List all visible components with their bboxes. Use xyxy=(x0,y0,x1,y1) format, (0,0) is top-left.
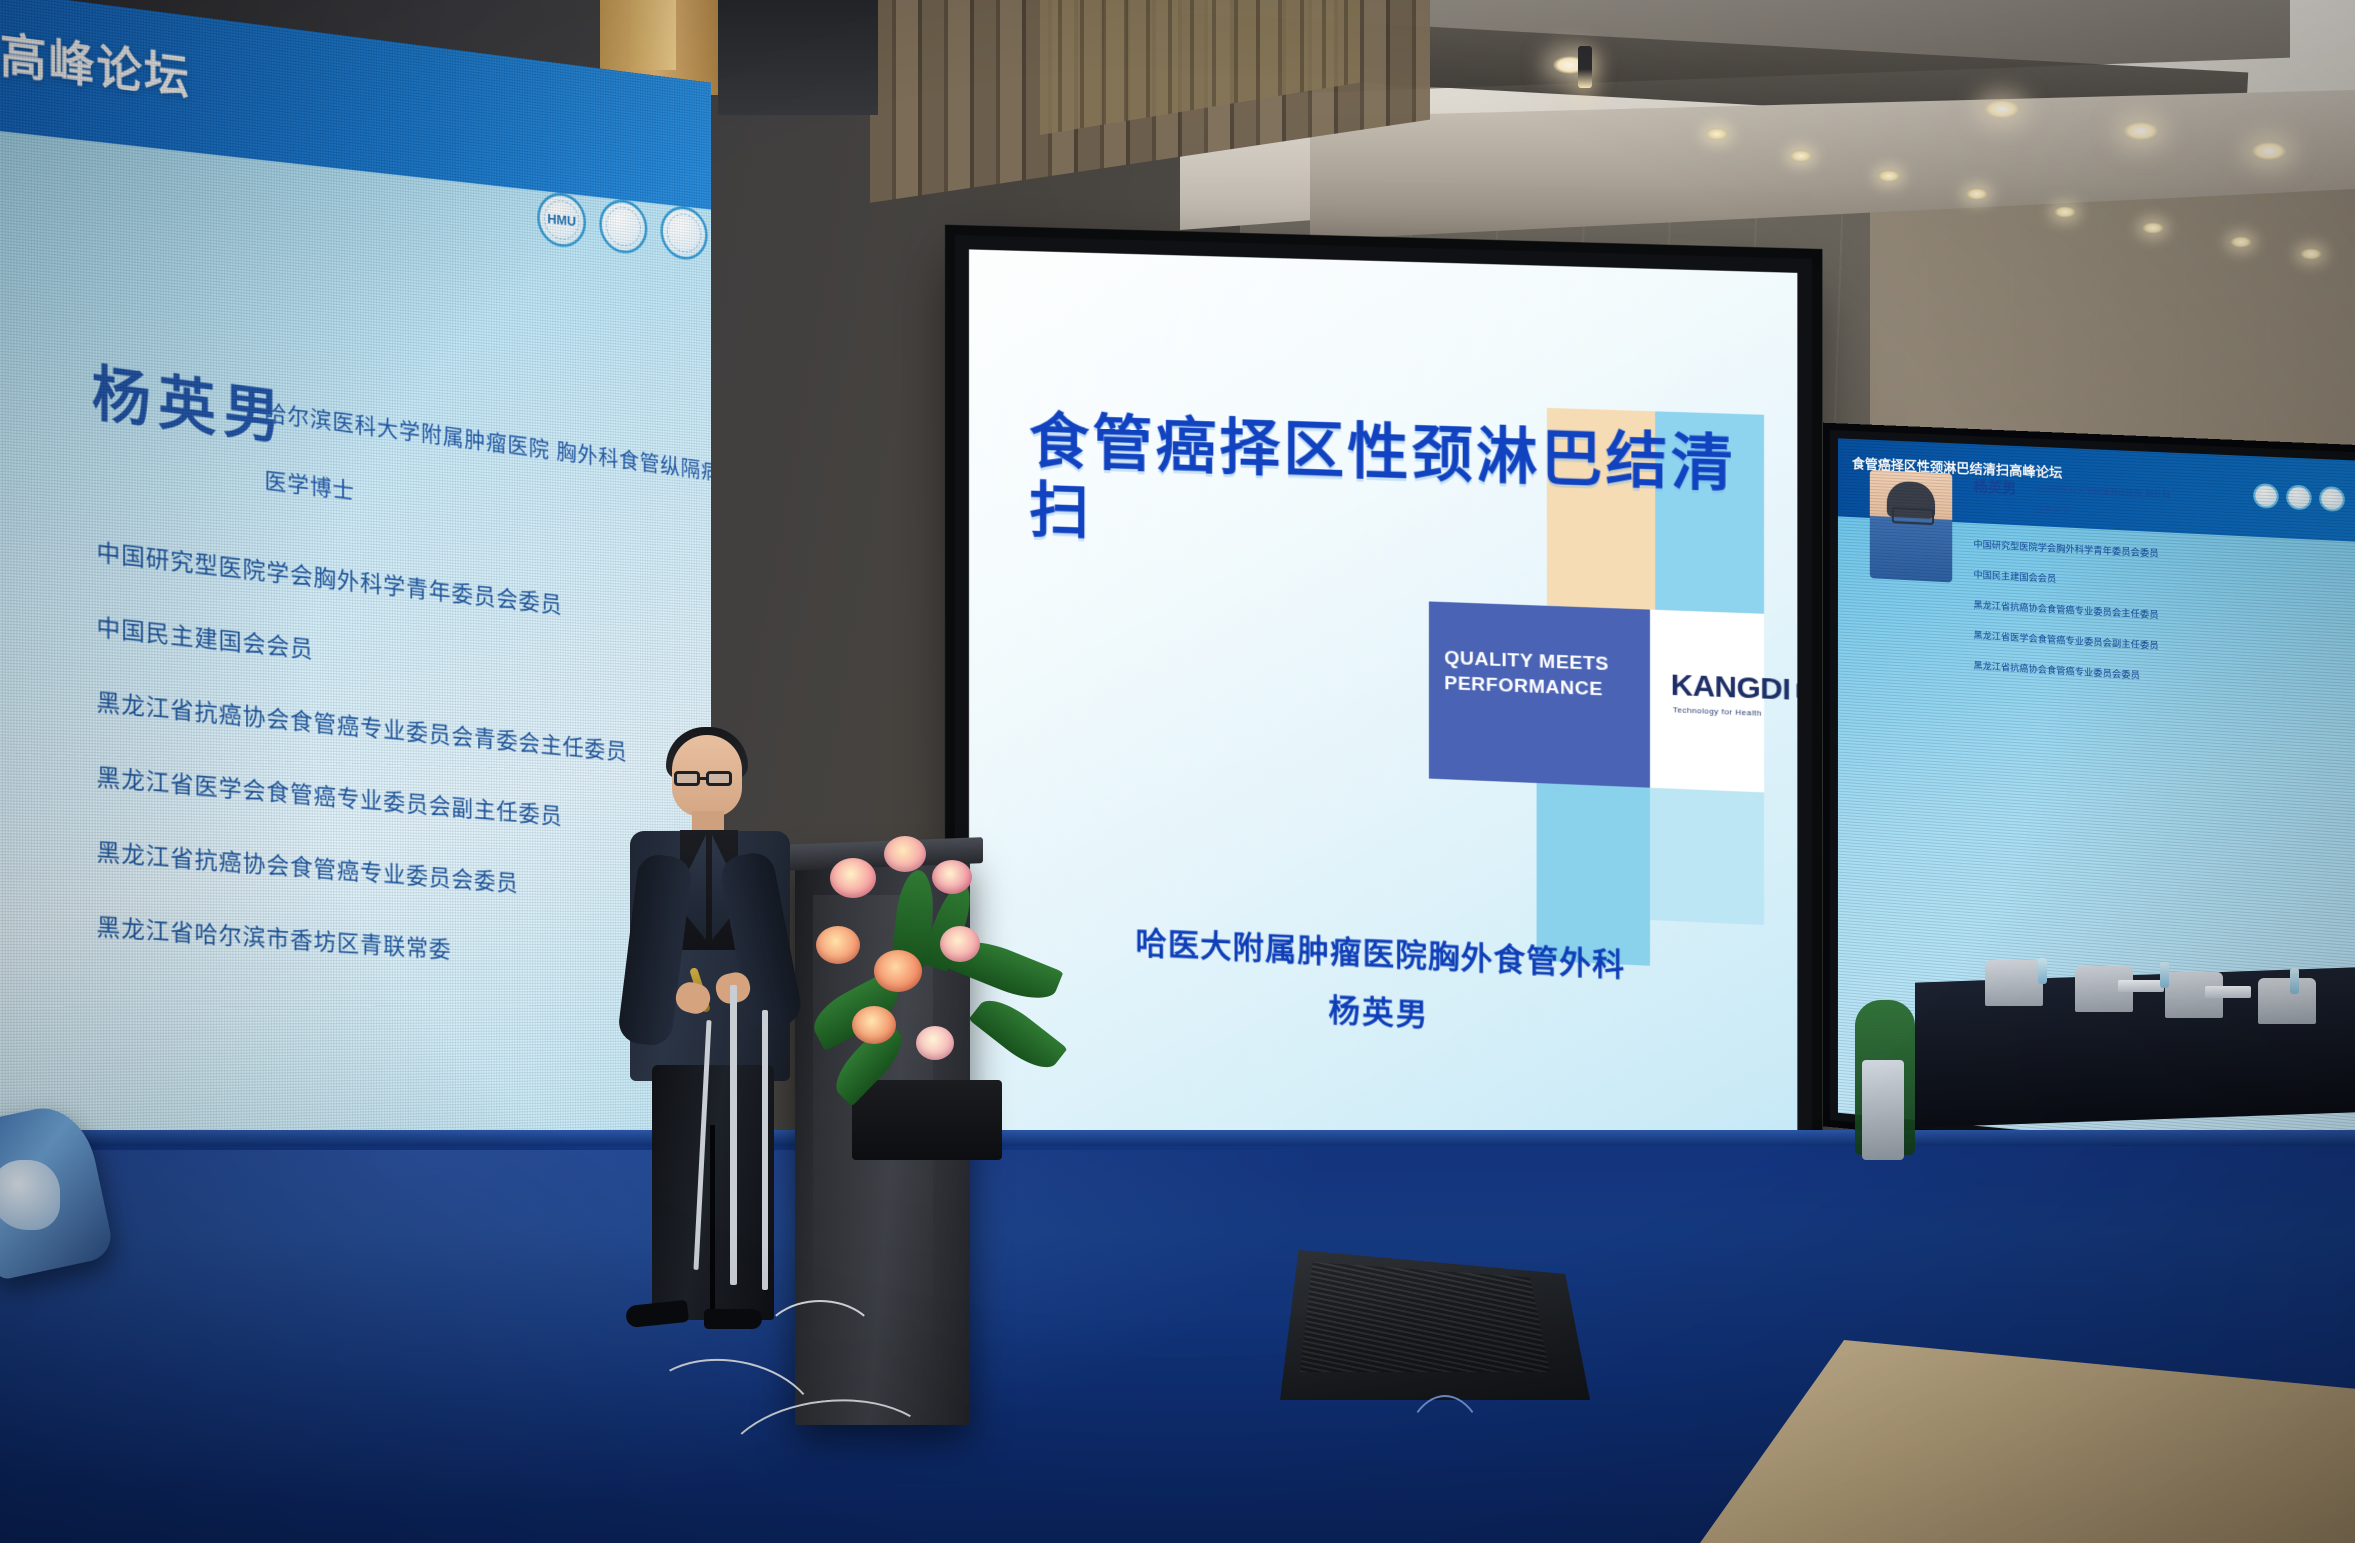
eyeglasses-icon xyxy=(674,771,700,786)
projection-screen-frame: 食管癌择区性颈淋巴结清扫 QUALITY MEETS PERFORMANCE K… xyxy=(955,235,1812,1225)
hmu-logo-icon xyxy=(2253,483,2278,509)
right-credentials-list: 中国研究型医院学会胸外科学青年委员会委员 中国民主建国会会员 黑龙江省抗癌协会食… xyxy=(1973,537,2317,710)
right-led-logo-row xyxy=(2253,483,2345,512)
water-bottle xyxy=(2290,968,2299,994)
ceiling-spot-light xyxy=(2300,248,2322,260)
leaf-logo-icon xyxy=(2286,484,2312,510)
credential-item: 黑龙江省医学会食管癌专业委员会副主任委员 xyxy=(96,758,662,840)
stage-edge xyxy=(0,1130,2355,1146)
trouser-seam xyxy=(710,1125,715,1320)
flower-bloom xyxy=(916,1026,954,1060)
credential-item: 中国研究型医院学会胸外科学青年委员会委员 xyxy=(1973,537,2317,568)
presenter-shoe xyxy=(625,1300,689,1328)
foliage-leaf xyxy=(968,989,1067,1078)
sponsor-brand-text: KANGDI xyxy=(1671,668,1791,707)
sponsor-tagline: QUALITY MEETS PERFORMANCE xyxy=(1444,646,1639,704)
ceiling-spot-light xyxy=(1790,150,1812,162)
ceiling-spot-light xyxy=(1878,170,1900,182)
ceiling-spot-light xyxy=(2230,236,2252,248)
ceiling-spot-light xyxy=(2142,222,2164,234)
flower-arrangement xyxy=(800,830,1070,1160)
credential-item: 黑龙江省抗癌协会食管癌专业委员会主任委员 xyxy=(1973,598,2317,630)
water-bottle xyxy=(2038,958,2047,984)
speaker-portrait xyxy=(1870,470,1952,583)
institute-logo-icon xyxy=(660,204,707,262)
right-speaker-degree: 医学博士 xyxy=(2036,504,2069,517)
flower-bloom xyxy=(940,926,980,962)
speaker-credentials-list: 中国研究型医院学会胸外科学青年委员会委员 中国民主建国会会员 黑龙江省抗癌协会食… xyxy=(96,533,662,1015)
dark-column xyxy=(718,0,878,115)
institute-logo-icon xyxy=(2319,486,2345,512)
flower-bloom xyxy=(932,860,972,894)
microphone-stand xyxy=(762,1010,768,1290)
right-speaker-affiliation: 哈尔滨医科大学附属肿瘤医院 胸外科 xyxy=(2036,483,2171,500)
hmu-logo-icon: HMU xyxy=(537,190,586,249)
slide-title: 食管癌择区性颈淋巴结清扫 xyxy=(1029,406,1743,570)
leaf-logo-icon xyxy=(599,197,647,255)
credential-item: 中国民主建国会会员 xyxy=(1973,567,2317,598)
stage-plant-pot xyxy=(1862,1060,1904,1160)
credential-item: 黑龙江省抗癌协会食管癌专业委员会委员 xyxy=(96,833,662,910)
table-nameplate xyxy=(2118,980,2164,992)
chair xyxy=(2258,978,2316,1024)
presenter-shoe xyxy=(704,1309,762,1329)
monitor-speaker-grill xyxy=(1300,1262,1550,1372)
credential-item: 黑龙江省抗癌协会食管癌专业委员会委员 xyxy=(1973,658,2317,692)
flower-bloom xyxy=(884,836,926,872)
monitor-cable xyxy=(1400,1395,1490,1543)
ceiling-spot-light xyxy=(1985,100,2019,118)
flower-bloom xyxy=(874,950,922,992)
right-speaker-name: 杨英男 xyxy=(1973,476,2016,498)
ceiling-spot-light xyxy=(2252,142,2286,160)
foreground-decor-accent xyxy=(0,1160,60,1230)
credential-item: 黑龙江省抗癌协会食管癌专业委员会青委会主任委员 xyxy=(96,683,662,771)
table-nameplate xyxy=(2205,986,2251,998)
ceiling-spot-light xyxy=(2054,206,2076,218)
pendant-light xyxy=(1578,46,1592,88)
wood-column-highlight xyxy=(630,0,676,70)
flower-bloom xyxy=(852,1006,896,1044)
presenter-person xyxy=(600,735,830,1335)
projection-screen: 食管癌择区性颈淋巴结清扫 QUALITY MEETS PERFORMANCE K… xyxy=(969,249,1797,1209)
right-led-header-title: 食管癌择区性颈淋巴结清扫高峰论坛 xyxy=(1852,455,2158,486)
chair xyxy=(1985,960,2043,1006)
eyeglasses-bridge xyxy=(700,777,706,780)
kangdi-hexagon-icon xyxy=(1797,675,1798,707)
microphone-stand xyxy=(730,985,737,1285)
conference-stage-photo: 高峰论坛 HMU 杨英男 哈尔滨医科大学附属肿瘤医院 胸外科食管纵隔病房 副主任… xyxy=(0,0,2355,1543)
credential-item: 黑龙江省哈尔滨市香坊区青联常委 xyxy=(96,908,662,979)
floor-cable xyxy=(760,1300,880,1390)
right-led-header-band xyxy=(1838,438,2355,542)
ceiling-spot-light xyxy=(1966,188,1988,200)
ceiling-spot-light xyxy=(1706,128,1728,140)
flower-vase xyxy=(852,1080,1002,1160)
water-bottle xyxy=(2160,962,2169,988)
ceiling-spot-light xyxy=(2124,122,2158,140)
credential-item: 黑龙江省医学会食管癌专业委员会副主任委员 xyxy=(1973,628,2317,661)
flower-bloom xyxy=(830,858,876,898)
deco-block-cyan-light xyxy=(1650,788,1764,925)
eyeglasses-icon xyxy=(706,771,732,786)
